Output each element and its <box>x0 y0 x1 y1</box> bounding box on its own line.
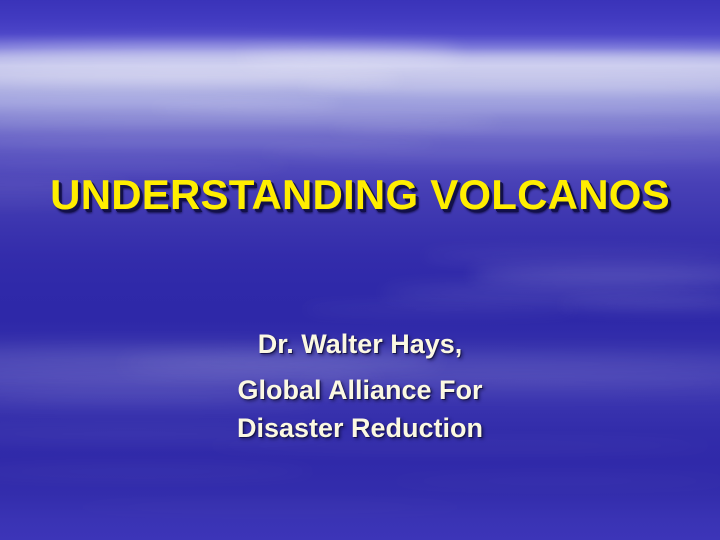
cloud-streak <box>240 52 720 66</box>
title-slide: UNDERSTANDING VOLCANOS Dr. Walter Hays, … <box>0 0 720 540</box>
slide-title: UNDERSTANDING VOLCANOS <box>50 172 670 218</box>
cloud-streak <box>470 268 720 281</box>
background-sky <box>0 0 720 540</box>
cloud-streak <box>0 468 320 475</box>
cloud-streak <box>60 504 480 510</box>
cloud-streak <box>330 126 720 133</box>
cloud-streak <box>380 478 720 484</box>
subtitle-organization-line-2: Disaster Reduction <box>0 409 720 447</box>
cloud-streak <box>0 118 500 126</box>
cloud-streak <box>380 288 720 298</box>
cloud-streak <box>300 306 580 313</box>
cloud-streak <box>260 150 720 157</box>
cloud-streak <box>560 300 720 309</box>
cloud-streak <box>420 252 720 260</box>
cloud-streak <box>150 104 720 112</box>
subtitle-author: Dr. Walter Hays, <box>0 325 720 363</box>
cloud-streak <box>0 98 340 107</box>
subtitle-organization-line-1: Global Alliance For <box>0 371 720 409</box>
cloud-streak <box>0 140 440 147</box>
cloud-streak <box>0 162 290 168</box>
cloud-streak <box>300 80 720 91</box>
slide-subtitle-block: Dr. Walter Hays, Global Alliance For Dis… <box>0 325 720 447</box>
slide-title-block: UNDERSTANDING VOLCANOS <box>0 172 720 218</box>
cloud-streak <box>0 72 400 84</box>
cloud-streak <box>0 46 460 62</box>
